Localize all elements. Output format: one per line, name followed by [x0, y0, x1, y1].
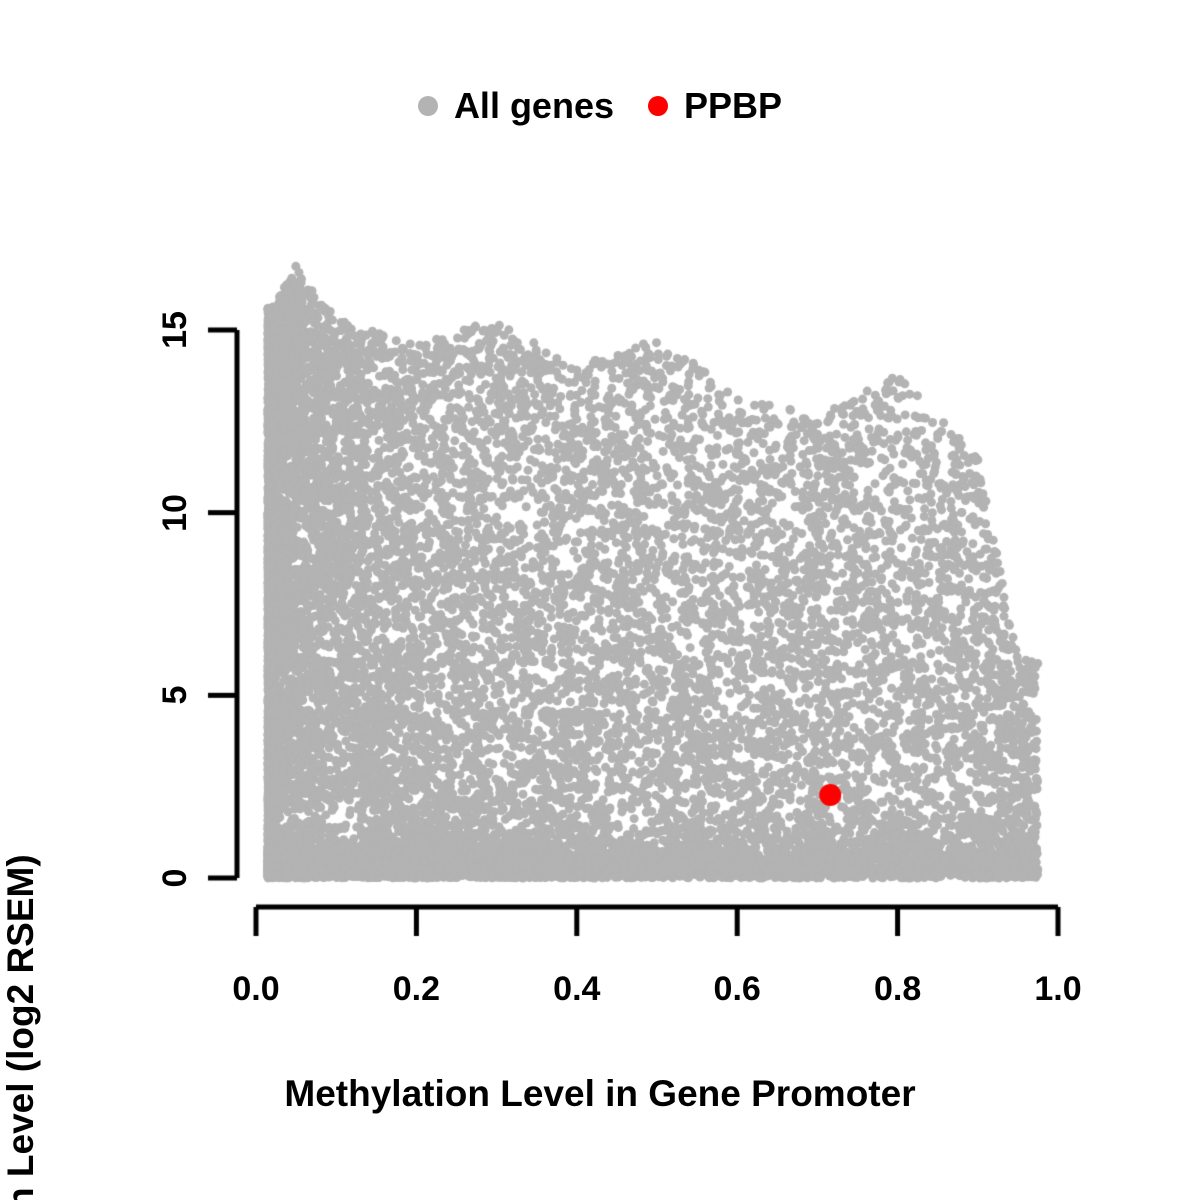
- x-tick-label-1: 0.2: [393, 972, 440, 1006]
- scatter-plot-figure: All genes PPBP Gene Expression Level (lo…: [0, 0, 1200, 1200]
- y-tick-label-2: 10: [158, 494, 192, 532]
- x-tick-label-0: 0.0: [232, 972, 279, 1006]
- x-tick-label-4: 0.8: [874, 972, 921, 1006]
- plot-canvas: [0, 0, 1200, 1200]
- y-tick-label-0: 0: [158, 869, 192, 888]
- y-tick-label-3: 15: [158, 311, 192, 349]
- x-tick-label-2: 0.4: [553, 972, 600, 1006]
- x-tick-label-5: 1.0: [1034, 972, 1081, 1006]
- x-axis-title: Methylation Level in Gene Promoter: [0, 1073, 1200, 1115]
- y-tick-label-1: 5: [158, 686, 192, 705]
- x-tick-label-3: 0.6: [714, 972, 761, 1006]
